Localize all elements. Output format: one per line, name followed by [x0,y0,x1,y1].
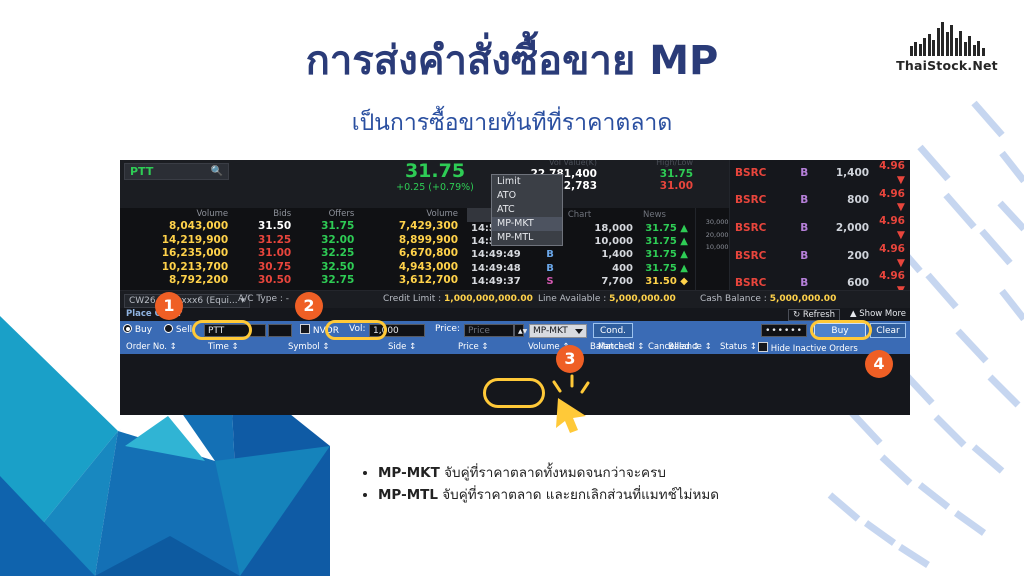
order-col-cancelled[interactable]: Cancelled ↕ [648,342,700,352]
price-change-value: +0.25 (+0.79%) [375,182,495,193]
show-more-label: Show More [859,309,906,319]
price-label: Price: [435,324,460,334]
logo-bars-icon [892,22,1002,56]
tab-news[interactable]: News [617,208,692,222]
trade-volume: 7,700 [567,275,637,288]
refresh-label: Refresh [803,310,835,320]
trade-volume: 10,000 [567,235,637,248]
quote-col-header: High/Low [601,160,693,168]
offer-price: 31.75 [298,220,361,234]
trade-volume: 1,400 [818,160,875,188]
bullet-list: MP-MKT จับคู่ที่ราคาตลาดทั้งหมดจนกว่าจะค… [362,462,719,506]
offer-volume: 3,612,700 [361,274,465,288]
search-icon[interactable]: 🔍 [211,166,223,177]
step-badge-2: 2 [295,292,323,320]
trading-app-window[interactable]: PTT 🔍 31.75 +0.25 (+0.79%) Vol Value(K)2… [120,160,910,415]
quote-col-value-1: 31.75 [601,168,693,180]
order-symbol-suffix-input[interactable] [268,324,292,337]
order-col-status[interactable]: Status ↕ [720,342,757,352]
line-available-field: Line Available : 5,000,000.00 [538,294,676,304]
trade-volume: 1,400 [567,248,637,261]
pin-input[interactable]: •••••• [761,324,807,337]
quote-col-value-2: 31.00 [601,180,693,192]
bid-price: 31.50 [235,220,298,234]
table-row[interactable]: 8,792,20030.5032.753,612,700 [120,274,465,288]
table-row[interactable]: 14:49:37S7,70031.50 ◆ [467,275,692,288]
trade-price: 4.96 ▼ [874,270,910,290]
bid-price: 30.75 [235,261,298,275]
bullet-desc: จับคู่ที่ราคาตลาด และยกเลิกส่วนที่แมทช์ไ… [438,487,719,503]
trade-volume: 600 [818,270,875,290]
order-type-option-limit[interactable]: Limit [492,175,562,189]
trade-volume: 2,000 [818,215,875,243]
trade-symbol: BSRC [730,188,791,216]
trade-price: 31.75 ▲ [637,235,692,248]
account-bar: CW26_E_7xxxx6 (Equi... ▾ A/C Type : - Cr… [120,290,910,308]
symbol-value: PTT [130,165,153,178]
order-col-symbol[interactable]: Symbol ↕ [288,342,330,352]
order-table-header[interactable]: Balance ↕Matched ↕Volume ↕Price ↕Side ↕S… [120,340,910,354]
cash-balance-field: Cash Balance : 5,000,000.00 [700,294,836,304]
cash-balance-value: 5,000,000.00 [770,294,837,304]
depth-col-header: Volume [120,208,235,220]
offer-price: 32.50 [298,261,361,275]
order-col-balance[interactable]: Balance ↕ [590,342,634,352]
trade-price: 31.75 ▲ [637,222,692,235]
trade-price: 31.50 ◆ [637,275,692,288]
trade-side: B [533,262,567,275]
trade-price: 4.96 ▼ [874,160,910,188]
step-badge-1: 1 [155,292,183,320]
list-item: MP-MKT จับคู่ที่ราคาตลาดทั้งหมดจนกว่าจะค… [378,462,719,484]
offer-volume: 6,670,800 [361,247,465,261]
order-price-input[interactable]: Price [464,324,514,337]
quote-col-header: Vol Value(K) [505,160,597,168]
table-row[interactable]: 16,235,00031.0032.256,670,800 [120,247,465,261]
highlight-ring-volume [325,320,387,340]
depth-col-header: Volume [361,208,465,220]
list-item: MP-MTL จับคู่ที่ราคาตลาด และยกเลิกส่วนที… [378,484,719,506]
bid-price: 31.25 [235,234,298,248]
line-available-label: Line Available : [538,294,606,304]
offer-volume: 4,943,000 [361,261,465,275]
order-col-price[interactable]: Price ↕ [458,342,489,352]
bid-offer-table: VolumeBidsOffersVolume 8,043,00031.5031.… [120,208,465,288]
trade-time: 14:49:37 [467,275,533,288]
page-title: การส่งคำสั่งซื้อขาย MP [0,28,1024,92]
table-row[interactable]: 10,213,70030.7532.504,943,000 [120,261,465,275]
line-available-value: 5,000,000.00 [609,294,676,304]
list-item[interactable]: BSRCB8004.96 ▼ [730,188,910,216]
offer-price: 32.25 [298,247,361,261]
logo-text: ThaiStock.Net [892,58,1002,73]
bid-price: 30.50 [235,274,298,288]
bid-volume: 8,043,000 [120,220,235,234]
ac-type-label: A/C Type : [238,294,283,304]
recent-trades-list[interactable]: BSRCB1,4004.96 ▼BSRCB8004.96 ▼BSRCB2,000… [729,160,910,290]
list-item[interactable]: BSRCB2004.96 ▼ [730,243,910,271]
trade-side: B [791,188,818,216]
highlight-ring-buy-button [810,320,872,340]
sell-radio-label: Sell [176,325,192,335]
trade-price: 4.96 ▼ [874,215,910,243]
order-type-value: MP-MKT [533,326,568,336]
trade-symbol: BSRC [730,243,791,271]
trade-price: 4.96 ▼ [874,188,910,216]
trade-side: B [791,215,818,243]
ac-type-value: - [286,294,289,304]
trade-volume: 18,000 [567,222,637,235]
table-row[interactable]: 8,043,00031.5031.757,429,300 [120,220,465,234]
step-badge-3: 3 [556,345,584,373]
account-value: CW26_E_7xxxx6 (Equi... [129,296,238,306]
order-type-option-atc[interactable]: ATC [492,203,562,217]
trade-time: 14:49:49 [467,248,533,261]
list-item[interactable]: BSRCB1,4004.96 ▼ [730,160,910,188]
last-price-value: 31.75 [375,160,495,182]
order-col-side[interactable]: Side ↕ [388,342,416,352]
trade-symbol: BSRC [730,270,791,290]
bid-price: 31.00 [235,247,298,261]
bid-volume: 10,213,700 [120,261,235,275]
credit-limit-field: Credit Limit : 1,000,000,000.00 [383,294,533,304]
clear-button[interactable]: Clear [870,323,906,338]
bullet-term: MP-MKT [378,465,440,481]
trade-symbol: BSRC [730,160,791,188]
side-buy-radio[interactable]: Buy [123,324,152,335]
symbol-search-input[interactable]: PTT 🔍 [124,163,229,180]
trade-time: 14:49:48 [467,262,533,275]
bullet-desc: จับคู่ที่ราคาตลาดทั้งหมดจนกว่าจะครบ [440,465,666,481]
trade-price: 31.75 ▲ [637,248,692,261]
hide-inactive-checkbox[interactable]: Hide Inactive Orders [758,342,858,354]
order-type-select[interactable]: MP-MKT [529,324,587,338]
offer-volume: 8,899,900 [361,234,465,248]
brand-logo: ThaiStock.Net [892,22,1002,73]
page-subtitle: เป็นการซื้อขายทันทีที่ราคาตลาด [0,105,1024,141]
offer-price: 32.00 [298,234,361,248]
highlight-ring-symbol [192,320,252,340]
trade-volume: 400 [567,262,637,275]
bid-volume: 14,219,900 [120,234,235,248]
radio-sell-icon [164,324,173,333]
step-badge-4: 4 [865,350,893,378]
order-type-dropdown[interactable]: LimitATOATCMP-MKTMP-MTL [491,174,563,246]
account-selector[interactable]: CW26_E_7xxxx6 (Equi... ▾ [124,294,250,308]
chevron-down-icon [575,329,583,334]
trade-side: B [791,270,818,290]
list-item[interactable]: BSRCB2,0004.96 ▼ [730,215,910,243]
order-col-time[interactable]: Time ↕ [208,342,239,352]
cash-balance-label: Cash Balance : [700,294,767,304]
order-type-option-ato[interactable]: ATO [492,189,562,203]
credit-limit-label: Credit Limit : [383,294,441,304]
offer-volume: 7,429,300 [361,220,465,234]
trade-price: 31.75 ▲ [637,262,692,275]
list-item[interactable]: BSRCB6004.96 ▼ [730,270,910,290]
trade-side: S [533,275,567,288]
depth-col-header: Bids [235,208,298,220]
bullet-term: MP-MTL [378,487,438,503]
quote-col-1: High/Low31.7531.00 [601,160,693,192]
order-type-option-mp-mkt[interactable]: MP-MKT [492,217,562,231]
last-price-block: 31.75 +0.25 (+0.79%) [375,160,495,193]
checkbox-nvdr-icon [300,324,310,334]
hide-inactive-label: Hide Inactive Orders [771,344,858,354]
radio-buy-icon [123,324,132,333]
price-stepper[interactable]: ▲▼ [514,324,524,337]
buy-radio-label: Buy [135,325,152,335]
offer-price: 32.75 [298,274,361,288]
depth-col-header: Offers [298,208,361,220]
order-type-option-mp-mtl[interactable]: MP-MTL [492,231,562,245]
table-row[interactable]: 14:49:48B40031.75 ▲ [467,262,692,275]
trade-symbol: BSRC [730,215,791,243]
side-sell-radio[interactable]: Sell [164,324,192,335]
cursor-arrow-icon [536,370,600,434]
trade-price: 4.96 ▼ [874,243,910,271]
trade-volume: 800 [818,188,875,216]
bid-volume: 16,235,000 [120,247,235,261]
trade-side: B [791,243,818,271]
ac-type-field: A/C Type : - [238,294,289,304]
checkbox-hide-inactive-icon [758,342,768,352]
trade-side: B [791,160,818,188]
table-row[interactable]: 14:49:49B1,40031.75 ▲ [467,248,692,261]
table-row[interactable]: 14,219,90031.2532.008,899,900 [120,234,465,248]
condition-button[interactable]: Cond. [593,323,633,338]
order-col-orderno[interactable]: Order No. ↕ [126,342,177,352]
trade-side: B [533,248,567,261]
bid-volume: 8,792,200 [120,274,235,288]
trade-volume: 200 [818,243,875,271]
credit-limit-value: 1,000,000,000.00 [444,294,533,304]
